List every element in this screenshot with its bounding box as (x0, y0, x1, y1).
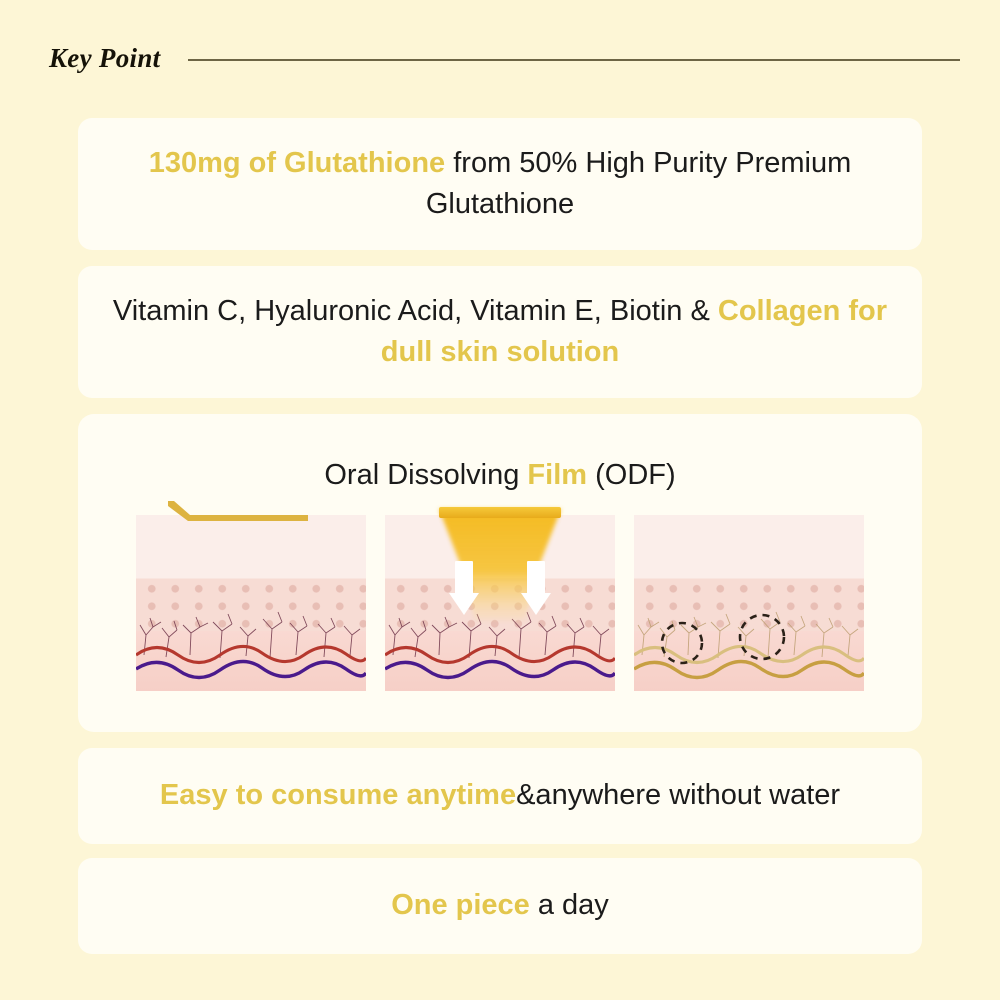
consume-rest: &anywhere without water (516, 779, 840, 811)
vessel-network-icon (136, 515, 366, 691)
skin-cross-section (136, 515, 366, 691)
card-consume-text: Easy to consume anytime&anywhere without… (134, 775, 866, 816)
odf-title-after: (ODF) (587, 459, 676, 491)
glutathione-highlight: 130mg of Glutathione (149, 147, 445, 179)
odf-title-before: Oral Dissolving (324, 459, 527, 491)
downward-arrows-icon (433, 559, 567, 631)
odf-panel-film-applied (136, 515, 366, 691)
oneaday-highlight: One piece (391, 889, 530, 921)
key-point-infographic: Key Point 130mg of Glutathione from 50% … (0, 0, 1000, 1000)
glutathione-rest: from 50% High Purity Premium Glutathione (426, 147, 851, 220)
page-title: Key Point (49, 43, 160, 74)
card-easy-to-consume: Easy to consume anytime&anywhere without… (78, 748, 922, 844)
card-oneaday-text: One piece a day (365, 885, 635, 926)
section-header: Key Point (0, 32, 1000, 84)
absorption-highlight-circles-icon (634, 515, 864, 691)
odf-panel-dissolving (385, 515, 615, 691)
film-strip-icon (164, 499, 310, 523)
card-ingredients: Vitamin C, Hyaluronic Acid, Vitamin E, B… (78, 266, 922, 398)
skin-cross-section (634, 515, 864, 691)
card-glutathione-text: 130mg of Glutathione from 50% High Purit… (78, 143, 922, 225)
card-glutathione: 130mg of Glutathione from 50% High Purit… (78, 118, 922, 250)
odf-panel-row (78, 515, 922, 691)
card-one-piece-a-day: One piece a day (78, 858, 922, 954)
odf-title-highlight: Film (527, 459, 587, 491)
film-strip-flat-icon (439, 507, 561, 518)
card-ingredients-text: Vitamin C, Hyaluronic Acid, Vitamin E, B… (78, 291, 922, 373)
odf-panel-absorbed (634, 515, 864, 691)
consume-highlight: Easy to consume anytime (160, 779, 516, 811)
header-divider (188, 59, 960, 61)
oneaday-rest: a day (530, 889, 609, 921)
ingredients-rest: Vitamin C, Hyaluronic Acid, Vitamin E, B… (113, 295, 718, 327)
odf-title: Oral Dissolving Film (ODF) (78, 458, 922, 493)
card-oral-dissolving-film: Oral Dissolving Film (ODF) (78, 414, 922, 732)
